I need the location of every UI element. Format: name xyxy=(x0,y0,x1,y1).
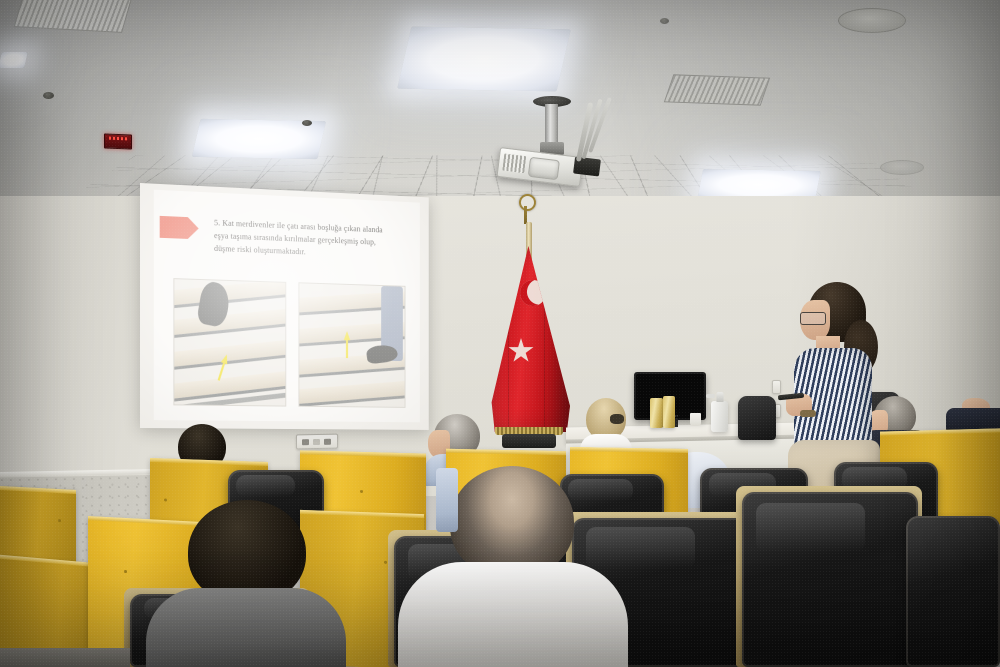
slide-photo-row xyxy=(173,278,405,408)
desk-cup[interactable] xyxy=(690,413,701,426)
ceiling-light-4 xyxy=(0,52,28,68)
wall-outlet-panel-2[interactable] xyxy=(772,380,781,394)
projector-pole xyxy=(545,104,558,146)
left-wall xyxy=(0,196,150,496)
projector-vent xyxy=(502,154,526,174)
sprinkler-head-2 xyxy=(302,120,312,126)
ceiling-vent-grille-topleft xyxy=(14,0,133,33)
projector-lens xyxy=(528,157,560,181)
flag-cloth xyxy=(490,246,570,432)
ceiling-light-1 xyxy=(397,27,571,92)
flag-crescent-icon xyxy=(517,277,550,310)
ceiling-hook-ring xyxy=(519,194,536,211)
slide-body-text: 5. Kat merdivenler ile çatı arası boşluğ… xyxy=(214,216,396,262)
projector-body xyxy=(496,147,583,187)
attendee-blue-sliver xyxy=(436,468,458,532)
slide-photo-right xyxy=(298,282,406,408)
sanitizer-pump-icon xyxy=(716,392,723,402)
sanitizer-nozzle-icon xyxy=(706,394,715,398)
attendee-grey-foreground-body xyxy=(146,588,346,667)
seat-back-front-4[interactable] xyxy=(742,492,918,667)
attendee-grey-foreground xyxy=(146,500,346,667)
office-chair-center[interactable] xyxy=(738,396,776,440)
attendee-balding-center-body xyxy=(398,562,628,667)
ceiling-projector xyxy=(486,96,626,191)
presenter-wristwatch xyxy=(800,410,816,417)
brass-plaque-right xyxy=(663,396,675,428)
hand-sanitizer-bottle[interactable] xyxy=(711,401,728,432)
slide-surface: 5. Kat merdivenler ile çatı arası boşluğ… xyxy=(154,190,420,423)
presenter-glasses xyxy=(800,312,826,325)
ceiling-vent-round xyxy=(838,8,906,33)
projection-screen: 5. Kat merdivenler ile çatı arası boşluğ… xyxy=(140,183,429,430)
brass-plaque-left xyxy=(650,398,663,428)
ceiling-vent-round-small xyxy=(880,160,924,175)
presentation-room-photo: 5. Kat merdivenler ile çatı arası boşluğ… xyxy=(0,0,1000,667)
seat-back-front-5[interactable] xyxy=(906,516,1000,667)
ceiling-vent-grille-center xyxy=(664,74,770,105)
flag-star-icon xyxy=(508,338,534,364)
wall-outlet-panel-1[interactable] xyxy=(296,434,338,450)
turkish-flag xyxy=(488,222,588,462)
floor xyxy=(0,648,130,667)
slide-photo-left xyxy=(173,278,285,406)
attendee-balding-center xyxy=(398,466,628,667)
sprinkler-head-3 xyxy=(660,18,669,24)
sprinkler-head-1 xyxy=(43,92,54,99)
emergency-exit-sign xyxy=(104,134,132,150)
slide-accent-arrow xyxy=(160,216,199,239)
flag-stand-base xyxy=(502,434,556,448)
attendee-blonde-hairtie xyxy=(610,414,624,424)
